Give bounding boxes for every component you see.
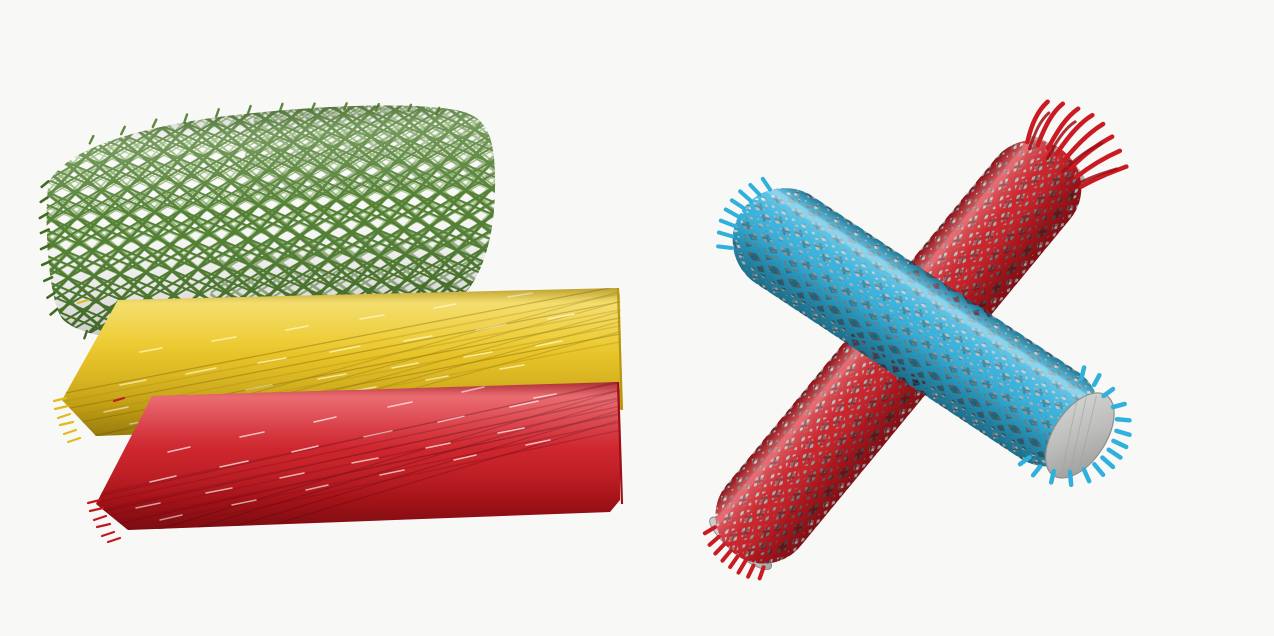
illustration-artwork (0, 0, 1274, 636)
screenshot-canvas: Examples of expandable mesh used in indu… (0, 0, 1274, 636)
